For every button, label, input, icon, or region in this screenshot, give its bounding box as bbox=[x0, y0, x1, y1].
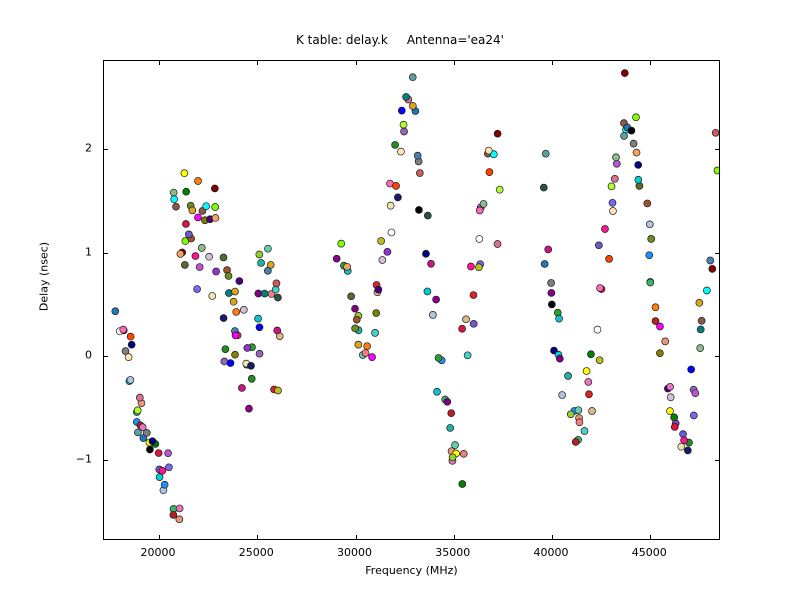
x-axis-label: Frequency (MHz) bbox=[103, 564, 720, 577]
scatter-point bbox=[143, 429, 150, 436]
scatter-point bbox=[272, 286, 279, 293]
scatter-point bbox=[486, 169, 493, 176]
scatter-point bbox=[248, 375, 255, 382]
scatter-point bbox=[247, 362, 254, 369]
scatter-point bbox=[453, 450, 460, 457]
scatter-point bbox=[338, 240, 345, 247]
scatter-point bbox=[621, 132, 628, 139]
scatter-point bbox=[647, 279, 654, 286]
scatter-point bbox=[585, 378, 592, 385]
scatter-point bbox=[344, 267, 351, 274]
scatter-point bbox=[392, 141, 399, 148]
scatter-point bbox=[232, 351, 239, 358]
scatter-point bbox=[238, 384, 245, 391]
scatter-point bbox=[348, 293, 355, 300]
scatter-point bbox=[137, 422, 144, 429]
scatter-point bbox=[397, 148, 404, 155]
scatter-point bbox=[201, 217, 208, 224]
scatter-point bbox=[630, 140, 637, 147]
y-tick-label: 2 bbox=[0, 142, 92, 155]
scatter-point bbox=[387, 202, 394, 209]
y-tick-label: −1 bbox=[0, 453, 92, 466]
scatter-point bbox=[623, 126, 630, 133]
scatter-point bbox=[595, 242, 602, 249]
scatter-point bbox=[667, 394, 674, 401]
y-axis-label: Delay (nsec) bbox=[38, 197, 51, 357]
scatter-point bbox=[424, 212, 431, 219]
scatter-point bbox=[470, 320, 477, 327]
scatter-point bbox=[608, 183, 615, 190]
scatter-point bbox=[359, 352, 366, 359]
scatter-point bbox=[170, 511, 177, 518]
scatter-point bbox=[697, 345, 704, 352]
scatter-point bbox=[409, 102, 416, 109]
scatter-point bbox=[652, 318, 659, 325]
scatter-point bbox=[671, 423, 678, 430]
scatter-point bbox=[541, 260, 548, 267]
scatter-point bbox=[449, 457, 456, 464]
scatter-point bbox=[477, 261, 484, 268]
scatter-point bbox=[198, 244, 205, 251]
scatter-point bbox=[567, 411, 574, 418]
scatter-point bbox=[133, 409, 140, 416]
scatter-point bbox=[165, 450, 172, 457]
scatter-point bbox=[678, 443, 685, 450]
scatter-point bbox=[196, 264, 203, 271]
scatter-point bbox=[696, 299, 703, 306]
scatter-point bbox=[353, 316, 360, 323]
scatter-point bbox=[161, 481, 168, 488]
scatter-point bbox=[647, 279, 654, 286]
scatter-point bbox=[225, 272, 232, 279]
scatter-point bbox=[576, 415, 583, 422]
scatter-point bbox=[256, 324, 263, 331]
scatter-point bbox=[155, 450, 162, 457]
scatter-point bbox=[139, 424, 146, 431]
scatter-point bbox=[243, 360, 250, 367]
scatter-point bbox=[125, 354, 132, 361]
plot-area[interactable] bbox=[103, 60, 720, 540]
y-axis-tick bbox=[715, 149, 719, 150]
scatter-point bbox=[256, 251, 263, 258]
scatter-point bbox=[207, 216, 214, 223]
scatter-point bbox=[636, 182, 643, 189]
scatter-point bbox=[463, 316, 470, 323]
scatter-point bbox=[712, 129, 719, 136]
scatter-point bbox=[171, 196, 178, 203]
y-axis-tick bbox=[104, 460, 108, 461]
x-tick-label: 30000 bbox=[337, 546, 372, 559]
scatter-point bbox=[422, 250, 429, 257]
scatter-point bbox=[703, 287, 710, 294]
scatter-point bbox=[179, 249, 186, 256]
scatter-point bbox=[271, 386, 278, 393]
scatter-point bbox=[373, 281, 380, 288]
scatter-point bbox=[464, 352, 471, 359]
y-axis-tick bbox=[715, 356, 719, 357]
scatter-point bbox=[369, 354, 376, 361]
x-axis-tick bbox=[650, 61, 651, 65]
scatter-point bbox=[540, 184, 547, 191]
scatter-point bbox=[581, 428, 588, 435]
scatter-point bbox=[467, 263, 474, 270]
scatter-point bbox=[224, 267, 231, 274]
scatter-point bbox=[264, 267, 271, 274]
scatter-point bbox=[134, 407, 141, 414]
scatter-point bbox=[429, 311, 436, 318]
scatter-point bbox=[379, 257, 386, 264]
scatter-point bbox=[460, 450, 467, 457]
scatter-point bbox=[170, 189, 177, 196]
scatter-point bbox=[394, 194, 401, 201]
scatter-point bbox=[424, 288, 431, 295]
scatter-point bbox=[587, 351, 594, 358]
scatter-point bbox=[447, 424, 454, 431]
scatter-point bbox=[692, 390, 699, 397]
scatter-point bbox=[243, 361, 250, 368]
x-axis-tick bbox=[257, 535, 258, 539]
scatter-point bbox=[433, 296, 440, 303]
scatter-point bbox=[156, 474, 163, 481]
scatter-point bbox=[589, 408, 596, 415]
scatter-point bbox=[403, 93, 410, 100]
scatter-point bbox=[476, 207, 483, 214]
scatter-point bbox=[459, 325, 466, 332]
scatter-point bbox=[221, 358, 228, 365]
scatter-point bbox=[559, 392, 566, 399]
scatter-point bbox=[684, 447, 691, 454]
scatter-point bbox=[609, 208, 616, 215]
scatter-point bbox=[635, 161, 642, 168]
scatter-point bbox=[352, 325, 359, 332]
scatter-point bbox=[374, 289, 381, 296]
scatter-point bbox=[555, 351, 562, 358]
scatter-point bbox=[222, 346, 229, 353]
scatter-point bbox=[146, 446, 153, 453]
x-axis-tick bbox=[552, 535, 553, 539]
scatter-point bbox=[613, 154, 620, 161]
scatter-point bbox=[232, 288, 239, 295]
scatter-point bbox=[671, 414, 678, 421]
scatter-point bbox=[648, 235, 655, 242]
scatter-point bbox=[572, 438, 579, 445]
scatter-point bbox=[189, 207, 196, 214]
scatter-point bbox=[384, 248, 391, 255]
scatter-point bbox=[127, 376, 134, 383]
scatter-point bbox=[274, 327, 281, 334]
scatter-point bbox=[452, 442, 459, 449]
scatter-point bbox=[714, 167, 719, 174]
figure-canvas: K table: delay.k Antenna='ea24' 20000250… bbox=[0, 0, 800, 600]
scatter-point bbox=[212, 204, 219, 211]
scatter-point bbox=[126, 378, 133, 385]
scatter-point bbox=[362, 350, 369, 357]
scatter-point bbox=[232, 332, 239, 339]
scatter-point bbox=[448, 448, 455, 455]
scatter-point bbox=[698, 317, 705, 324]
scatter-point bbox=[448, 410, 455, 417]
scatter-point bbox=[230, 298, 237, 305]
scatter-point bbox=[444, 398, 451, 405]
scatter-point bbox=[609, 199, 616, 206]
scatter-point bbox=[373, 310, 380, 317]
x-tick-label: 45000 bbox=[632, 546, 667, 559]
scatter-point bbox=[227, 360, 234, 367]
scatter-point bbox=[707, 257, 714, 264]
scatter-point bbox=[428, 260, 435, 267]
scatter-point bbox=[372, 329, 379, 336]
scatter-point bbox=[273, 280, 280, 287]
scatter-point bbox=[386, 180, 393, 187]
scatter-point bbox=[128, 341, 135, 348]
scatter-point bbox=[667, 383, 674, 390]
x-tick-label: 25000 bbox=[239, 546, 274, 559]
scatter-point bbox=[236, 278, 243, 285]
scatter-point bbox=[575, 407, 582, 414]
scatter-point bbox=[352, 305, 359, 312]
scatter-point bbox=[633, 149, 640, 156]
scatter-point bbox=[185, 231, 192, 238]
scatter-point bbox=[136, 394, 143, 401]
scatter-point bbox=[667, 408, 674, 415]
scatter-point bbox=[340, 262, 347, 269]
scatter-point bbox=[134, 429, 141, 436]
scatter-point bbox=[690, 412, 697, 419]
scatter-point bbox=[203, 203, 210, 210]
scatter-point bbox=[194, 214, 201, 221]
scatter-point bbox=[401, 128, 408, 135]
scatter-point bbox=[176, 516, 183, 523]
scatter-point bbox=[149, 438, 156, 445]
scatter-point bbox=[211, 185, 218, 192]
scatter-point bbox=[690, 386, 697, 393]
scatter-point bbox=[697, 326, 704, 333]
scatter-point bbox=[267, 261, 274, 268]
scatter-point bbox=[112, 308, 119, 315]
scatter-point bbox=[274, 294, 281, 301]
x-tick-label: 40000 bbox=[534, 546, 569, 559]
scatter-point bbox=[245, 405, 252, 412]
scatter-point bbox=[344, 263, 351, 270]
scatter-point bbox=[490, 151, 497, 158]
scatter-point bbox=[709, 265, 716, 272]
scatter-point bbox=[156, 466, 163, 473]
scatter-point bbox=[233, 308, 240, 315]
scatter-point bbox=[571, 407, 578, 414]
scatter-point bbox=[187, 202, 194, 209]
y-axis-tick bbox=[715, 253, 719, 254]
scatter-point bbox=[656, 323, 663, 330]
scatter-point bbox=[378, 237, 385, 244]
scatter-point bbox=[116, 328, 123, 335]
scatter-point bbox=[477, 204, 484, 211]
scatter-point bbox=[120, 326, 127, 333]
scatter-point bbox=[264, 245, 271, 252]
scatter-point bbox=[548, 289, 555, 296]
scatter-point bbox=[133, 418, 140, 425]
scatter-point bbox=[213, 268, 220, 275]
scatter-point bbox=[140, 435, 147, 442]
scatter-point bbox=[576, 419, 583, 426]
scatter-point bbox=[182, 220, 189, 227]
page-title: K table: delay.k Antenna='ea24' bbox=[0, 33, 800, 47]
scatter-point bbox=[613, 160, 620, 167]
scatter-point bbox=[355, 312, 362, 319]
scatter-point bbox=[256, 350, 263, 357]
scatter-point bbox=[485, 147, 492, 154]
scatter-point bbox=[412, 108, 419, 115]
scatter-point bbox=[181, 170, 188, 177]
x-axis-tick bbox=[454, 61, 455, 65]
scatter-point bbox=[152, 440, 159, 447]
scatter-point bbox=[680, 431, 687, 438]
scatter-point bbox=[415, 206, 422, 213]
scatter-point bbox=[212, 214, 219, 221]
scatter-point bbox=[375, 286, 382, 293]
scatter-point bbox=[664, 385, 671, 392]
x-axis-tick bbox=[650, 535, 651, 539]
scatter-point bbox=[414, 152, 421, 159]
scatter-point bbox=[556, 315, 563, 322]
scatter-point bbox=[209, 292, 216, 299]
scatter-point bbox=[177, 250, 184, 257]
scatter-point bbox=[138, 400, 145, 407]
scatter-point bbox=[255, 290, 262, 297]
scatter-point bbox=[120, 327, 127, 334]
scatter-point bbox=[220, 254, 227, 261]
scatter-point bbox=[405, 96, 412, 103]
scatter-point bbox=[475, 264, 482, 271]
scatter-point bbox=[409, 74, 416, 81]
scatter-point bbox=[261, 290, 268, 297]
scatter-point bbox=[206, 253, 213, 260]
scatter-point bbox=[240, 306, 247, 313]
scatter-point bbox=[355, 327, 362, 334]
scatter-point bbox=[127, 333, 134, 340]
scatter-point bbox=[656, 350, 663, 357]
scatter-point bbox=[621, 70, 628, 77]
scatter-point bbox=[585, 391, 592, 398]
scatter-point bbox=[594, 326, 601, 333]
scatter-point bbox=[434, 388, 441, 395]
scatter-point bbox=[476, 235, 483, 242]
scatter-point bbox=[548, 279, 555, 286]
scatter-point bbox=[183, 188, 190, 195]
scatter-point bbox=[632, 114, 639, 121]
scatter-point bbox=[225, 290, 232, 297]
scatter-point bbox=[435, 354, 442, 361]
scatter-point bbox=[662, 338, 669, 345]
x-axis-tick bbox=[454, 535, 455, 539]
scatter-point bbox=[388, 229, 395, 236]
scatter-point bbox=[598, 286, 605, 293]
scatter-point bbox=[181, 261, 188, 268]
scatter-point bbox=[400, 121, 407, 128]
x-axis-tick bbox=[159, 535, 160, 539]
scatter-point bbox=[550, 347, 557, 354]
scatter-point bbox=[274, 387, 281, 394]
x-tick-label: 35000 bbox=[435, 546, 470, 559]
scatter-point bbox=[188, 235, 195, 242]
scatter-point bbox=[393, 182, 400, 189]
scatter-point bbox=[182, 238, 189, 245]
scatter-point bbox=[146, 439, 153, 446]
scatter-point bbox=[480, 200, 487, 207]
x-axis-tick bbox=[159, 61, 160, 65]
scatter-point bbox=[583, 368, 590, 375]
scatter-point bbox=[355, 341, 362, 348]
scatter-point bbox=[646, 252, 653, 259]
scatter-point bbox=[681, 437, 688, 444]
scatter-point bbox=[494, 130, 501, 137]
scatter-point bbox=[542, 150, 549, 157]
scatter-point bbox=[611, 175, 618, 182]
scatter-point bbox=[415, 158, 422, 165]
scatter-point bbox=[159, 467, 166, 474]
scatter-point bbox=[333, 255, 340, 262]
scatter-point bbox=[548, 301, 555, 308]
scatter-point bbox=[688, 366, 695, 373]
scatter-point bbox=[194, 286, 201, 293]
scatter-point bbox=[459, 481, 466, 488]
scatter-point bbox=[398, 107, 405, 114]
scatter-point bbox=[685, 439, 692, 446]
scatter-points-layer bbox=[104, 61, 719, 539]
scatter-point bbox=[244, 344, 251, 351]
scatter-point bbox=[160, 487, 167, 494]
scatter-point bbox=[494, 240, 501, 247]
scatter-point bbox=[220, 315, 227, 322]
y-axis-tick bbox=[104, 253, 108, 254]
scatter-point bbox=[364, 343, 371, 350]
scatter-point bbox=[596, 357, 603, 364]
scatter-point bbox=[122, 348, 129, 355]
scatter-point bbox=[173, 203, 180, 210]
scatter-point bbox=[484, 150, 491, 157]
y-axis-tick bbox=[104, 149, 108, 150]
scatter-point bbox=[652, 304, 659, 311]
scatter-point bbox=[644, 200, 651, 207]
scatter-point bbox=[628, 127, 635, 134]
scatter-point bbox=[268, 290, 275, 297]
scatter-point bbox=[165, 464, 172, 471]
scatter-point bbox=[234, 332, 241, 339]
scatter-point bbox=[176, 505, 183, 512]
scatter-point bbox=[606, 255, 613, 262]
scatter-point bbox=[449, 454, 456, 461]
scatter-point bbox=[635, 176, 642, 183]
scatter-point bbox=[646, 221, 653, 228]
scatter-point bbox=[597, 285, 604, 292]
scatter-point bbox=[470, 292, 477, 299]
x-axis-tick bbox=[356, 61, 357, 65]
scatter-point bbox=[565, 372, 572, 379]
scatter-point bbox=[170, 506, 177, 513]
scatter-point bbox=[416, 170, 423, 177]
scatter-point bbox=[199, 207, 206, 214]
scatter-point bbox=[276, 333, 283, 340]
scatter-point bbox=[195, 178, 202, 185]
scatter-point bbox=[192, 253, 199, 260]
y-axis-tick bbox=[715, 460, 719, 461]
scatter-point bbox=[620, 120, 627, 127]
y-axis-tick bbox=[104, 356, 108, 357]
scatter-point bbox=[545, 246, 552, 253]
scatter-point bbox=[601, 226, 608, 233]
x-axis-tick bbox=[552, 61, 553, 65]
scatter-point bbox=[575, 436, 582, 443]
scatter-point bbox=[556, 355, 563, 362]
